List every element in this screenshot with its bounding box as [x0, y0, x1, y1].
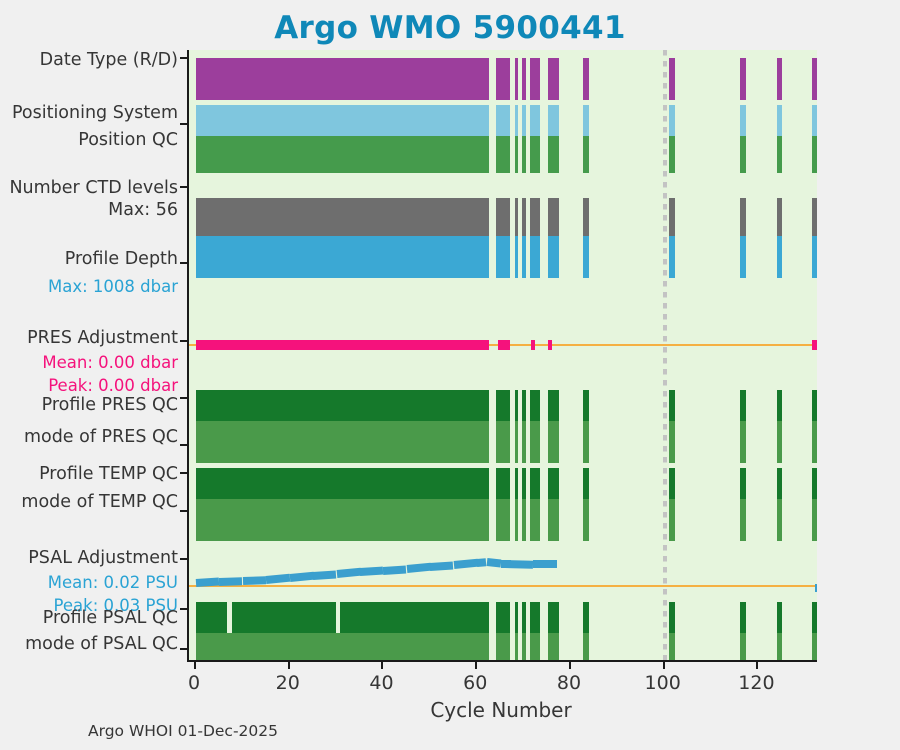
- row-positioning-system: [189, 105, 817, 136]
- bar-profile-depth: [196, 236, 489, 278]
- y-label-date-type: Date Type (R/D): [0, 50, 178, 71]
- bar-positioning-system: [522, 105, 526, 136]
- psal-adjustment-trace: [486, 558, 501, 567]
- bar-date-type: [496, 58, 510, 100]
- row-profile-psal-qc: [189, 602, 817, 633]
- bar-position-qc: [740, 136, 746, 173]
- footer-credit: Argo WHOI 01-Dec-2025: [88, 722, 278, 740]
- bar-profile-psal-qc: [740, 602, 746, 633]
- bar-mode-of-pres-qc: [740, 421, 746, 463]
- bar-mode-of-pres-qc: [196, 421, 489, 463]
- y-label-number-ctd-levels: Number CTD levels: [0, 178, 178, 199]
- psal-adjustment-point: [815, 584, 817, 592]
- bar-date-type: [522, 58, 526, 100]
- bar-number-ctd-levels: [583, 198, 589, 236]
- bar-date-type: [669, 58, 675, 100]
- plot-area: [187, 50, 817, 662]
- bar-positioning-system: [812, 105, 817, 136]
- bar-profile-depth: [669, 236, 675, 278]
- bar-profile-pres-qc: [522, 390, 526, 421]
- bar-mode-of-psal-qc: [669, 633, 675, 660]
- bar-positioning-system: [669, 105, 675, 136]
- bar-profile-temp-qc: [669, 468, 675, 499]
- x-tick-label-0: 0: [188, 672, 200, 694]
- y-label-psal-adjustment-sub1: Mean: 0.02 PSU: [0, 572, 178, 593]
- y-label-pres-adjustment-sub2: Peak: 0.00 dbar: [0, 375, 178, 396]
- y-label-profile-pres-qc: Profile PRES QC: [0, 395, 178, 416]
- x-axis: 020406080100120: [187, 662, 815, 702]
- bar-number-ctd-levels: [496, 198, 510, 236]
- bar-position-qc: [530, 136, 541, 173]
- bar-mode-of-psal-qc: [777, 633, 782, 660]
- psal-adjustment-point: [505, 560, 511, 568]
- bar-number-ctd-levels: [777, 198, 782, 236]
- x-tick-label-120: 120: [738, 672, 774, 694]
- bar-profile-depth: [496, 236, 510, 278]
- bar-mode-of-psal-qc: [496, 633, 510, 660]
- bar-profile-psal-qc: [669, 602, 675, 633]
- x-tick-label-20: 20: [276, 672, 300, 694]
- y-label-profile-psal-qc: Profile PSAL QC: [0, 608, 178, 629]
- bar-profile-pres-qc: [669, 390, 675, 421]
- bar-mode-of-psal-qc: [522, 633, 526, 660]
- bar-date-type: [515, 58, 519, 100]
- bar-positioning-system: [740, 105, 746, 136]
- bar-number-ctd-levels: [812, 198, 817, 236]
- y-label-psal-adjustment: PSAL Adjustment: [0, 548, 178, 569]
- x-tick-100: [663, 662, 665, 669]
- psal-adjustment-trace: [360, 567, 384, 577]
- bar-mode-of-pres-qc: [530, 421, 541, 463]
- bar-mode-of-psal-qc: [530, 633, 541, 660]
- bar-positioning-system: [515, 105, 519, 136]
- bar-mode-of-temp-qc: [740, 499, 746, 541]
- bar-profile-pres-qc: [812, 390, 817, 421]
- bar-position-qc: [777, 136, 782, 173]
- y-label-positioning-system: Positioning System: [0, 103, 178, 124]
- bar-mode-of-pres-qc: [812, 421, 817, 463]
- bar-date-type: [583, 58, 589, 100]
- x-tick-label-60: 60: [463, 672, 487, 694]
- bar-profile-pres-qc: [740, 390, 746, 421]
- x-tick-80: [569, 662, 571, 669]
- bar-positioning-system: [548, 105, 560, 136]
- row-date-type: [189, 58, 817, 100]
- y-label-position-qc: Position QC: [0, 130, 178, 151]
- bar-profile-temp-qc: [777, 468, 782, 499]
- bar-position-qc: [583, 136, 589, 173]
- psal-adjustment-trace: [453, 559, 477, 569]
- x-tick-0: [194, 662, 196, 669]
- y-label-profile-depth: Profile Depth: [0, 249, 178, 270]
- y-tick-9: [180, 558, 187, 560]
- y-label-mode-of-pres-qc: mode of PRES QC: [0, 427, 178, 448]
- y-label-mode-of-psal-qc: mode of PSAL QC: [0, 634, 178, 655]
- psal-adjustment-point: [552, 560, 557, 568]
- bar-mode-of-temp-qc: [777, 499, 782, 541]
- bar-profile-pres-qc: [548, 390, 560, 421]
- bar-mode-of-psal-qc: [812, 633, 817, 660]
- bar-number-ctd-levels: [740, 198, 746, 236]
- bar-date-type: [740, 58, 746, 100]
- bar-profile-pres-qc: [496, 390, 510, 421]
- x-tick-label-100: 100: [645, 672, 681, 694]
- bar-mode-of-psal-qc: [583, 633, 589, 660]
- bar-position-qc: [496, 136, 510, 173]
- bar-mode-of-pres-qc: [583, 421, 589, 463]
- bar-mode-of-pres-qc: [669, 421, 675, 463]
- bar-position-qc: [522, 136, 526, 173]
- y-label-pres-adjustment: PRES Adjustment: [0, 328, 178, 349]
- bar-profile-psal-qc: [196, 602, 227, 633]
- bar-profile-pres-qc: [777, 390, 782, 421]
- bar-profile-temp-qc: [496, 468, 510, 499]
- bar-position-qc: [669, 136, 675, 173]
- bar-positioning-system: [496, 105, 510, 136]
- bar-mode-of-temp-qc: [812, 499, 817, 541]
- y-tick-11: [180, 648, 187, 650]
- bar-profile-temp-qc: [515, 468, 519, 499]
- psal-adjustment-trace: [383, 565, 407, 575]
- bar-mode-of-psal-qc: [740, 633, 746, 660]
- bar-mode-of-temp-qc: [548, 499, 560, 541]
- x-tick-40: [381, 662, 383, 669]
- y-label-mode-of-temp-qc: mode of TEMP QC: [0, 492, 178, 513]
- bar-profile-psal-qc: [530, 602, 541, 633]
- psal-adjustment-point: [533, 560, 538, 568]
- bar-mode-of-temp-qc: [530, 499, 541, 541]
- row-psal-adjustment: [189, 545, 817, 607]
- bar-positioning-system: [583, 105, 589, 136]
- y-tick-10: [180, 608, 187, 610]
- bar-mode-of-temp-qc: [583, 499, 589, 541]
- pres-adjustment-segment: [196, 340, 489, 350]
- bar-mode-of-pres-qc: [548, 421, 560, 463]
- x-tick-label-40: 40: [369, 672, 393, 694]
- bar-mode-of-temp-qc: [496, 499, 510, 541]
- bar-date-type: [812, 58, 817, 100]
- bar-profile-temp-qc: [548, 468, 560, 499]
- bar-mode-of-temp-qc: [522, 499, 526, 541]
- bar-profile-depth: [548, 236, 560, 278]
- bar-profile-depth: [812, 236, 817, 278]
- psal-adjustment-trace: [477, 558, 487, 567]
- bar-profile-depth: [515, 236, 519, 278]
- cycle-100-reference-line: [663, 50, 667, 660]
- bar-position-qc: [515, 136, 519, 173]
- row-number-ctd-levels: [189, 198, 817, 236]
- row-position-qc: [189, 136, 817, 173]
- bar-profile-psal-qc: [515, 602, 519, 633]
- bar-positioning-system: [196, 105, 489, 136]
- bar-date-type: [530, 58, 541, 100]
- page-title: Argo WMO 5900441: [0, 10, 900, 46]
- bar-profile-depth: [522, 236, 526, 278]
- psal-adjustment-trace: [407, 563, 431, 573]
- bar-position-qc: [812, 136, 817, 173]
- y-label-number-ctd-levels-sub1: Max: 56: [0, 200, 178, 221]
- bar-number-ctd-levels: [669, 198, 675, 236]
- bar-number-ctd-levels: [548, 198, 560, 236]
- pres-adjustment-segment: [548, 340, 553, 350]
- y-label-profile-temp-qc: Profile TEMP QC: [0, 464, 178, 485]
- bar-profile-temp-qc: [740, 468, 746, 499]
- bar-mode-of-pres-qc: [777, 421, 782, 463]
- bar-profile-pres-qc: [530, 390, 541, 421]
- bar-profile-depth: [777, 236, 782, 278]
- bar-profile-pres-qc: [515, 390, 519, 421]
- y-tick-3: [180, 262, 187, 264]
- psal-adjustment-trace: [266, 574, 290, 584]
- bar-profile-psal-qc: [340, 602, 489, 633]
- bar-profile-temp-qc: [530, 468, 541, 499]
- psal-adjustment-trace: [243, 576, 267, 585]
- bar-mode-of-pres-qc: [522, 421, 526, 463]
- bar-positioning-system: [777, 105, 782, 136]
- y-label-pres-adjustment-sub1: Mean: 0.00 dbar: [0, 352, 178, 373]
- bar-profile-psal-qc: [812, 602, 817, 633]
- row-mode-of-pres-qc: [189, 421, 817, 463]
- bar-profile-pres-qc: [583, 390, 589, 421]
- bar-profile-psal-qc: [583, 602, 589, 633]
- psal-adjustment-trace: [313, 570, 337, 580]
- y-tick-1: [180, 123, 187, 125]
- y-tick-0: [180, 57, 187, 59]
- row-profile-pres-qc: [189, 390, 817, 421]
- row-profile-depth: [189, 236, 817, 278]
- pres-adjustment-segment: [531, 340, 535, 350]
- bar-profile-temp-qc: [812, 468, 817, 499]
- bar-profile-psal-qc: [496, 602, 510, 633]
- bar-position-qc: [548, 136, 560, 173]
- bar-profile-psal-qc: [522, 602, 526, 633]
- bar-profile-depth: [530, 236, 541, 278]
- x-tick-60: [475, 662, 477, 669]
- plot-canvas: [189, 50, 817, 660]
- zero-line-psal-adjustment: [189, 585, 817, 587]
- bar-profile-temp-qc: [196, 468, 489, 499]
- x-axis-title: Cycle Number: [187, 698, 815, 722]
- bar-date-type: [777, 58, 782, 100]
- x-tick-20: [288, 662, 290, 669]
- bar-number-ctd-levels: [530, 198, 541, 236]
- psal-adjustment-trace: [219, 577, 243, 586]
- bar-profile-temp-qc: [583, 468, 589, 499]
- y-tick-8: [180, 510, 187, 512]
- y-tick-2: [180, 186, 187, 188]
- bar-positioning-system: [530, 105, 541, 136]
- y-tick-4: [180, 340, 187, 342]
- bar-mode-of-psal-qc: [548, 633, 560, 660]
- row-mode-of-temp-qc: [189, 499, 817, 541]
- bar-profile-depth: [583, 236, 589, 278]
- bar-mode-of-pres-qc: [496, 421, 510, 463]
- bar-mode-of-psal-qc: [515, 633, 519, 660]
- bar-date-type: [548, 58, 560, 100]
- y-label-profile-depth-sub1: Max: 1008 dbar: [0, 276, 178, 297]
- y-tick-5: [180, 397, 187, 399]
- psal-adjustment-trace: [289, 572, 313, 582]
- psal-adjustment-trace: [336, 568, 360, 578]
- bar-mode-of-pres-qc: [515, 421, 519, 463]
- bar-mode-of-temp-qc: [196, 499, 489, 541]
- row-profile-temp-qc: [189, 468, 817, 499]
- row-mode-of-psal-qc: [189, 633, 817, 660]
- bar-number-ctd-levels: [196, 198, 489, 236]
- y-tick-7: [180, 472, 187, 474]
- bar-profile-depth: [740, 236, 746, 278]
- bar-date-type: [196, 58, 489, 100]
- bar-mode-of-temp-qc: [669, 499, 675, 541]
- psal-adjustment-trace: [430, 561, 454, 571]
- row-pres-adjustment: [189, 320, 817, 370]
- bar-profile-pres-qc: [196, 390, 489, 421]
- bar-profile-psal-qc: [548, 602, 560, 633]
- bar-profile-psal-qc: [232, 602, 336, 633]
- bar-mode-of-psal-qc: [196, 633, 489, 660]
- bar-position-qc: [196, 136, 489, 173]
- pres-adjustment-segment: [812, 340, 817, 350]
- x-tick-120: [756, 662, 758, 669]
- bar-profile-temp-qc: [522, 468, 526, 499]
- pres-adjustment-segment: [498, 340, 510, 350]
- bar-profile-psal-qc: [777, 602, 782, 633]
- bar-mode-of-temp-qc: [515, 499, 519, 541]
- x-tick-label-80: 80: [557, 672, 581, 694]
- bar-number-ctd-levels: [515, 198, 519, 236]
- y-tick-6: [180, 444, 187, 446]
- bar-number-ctd-levels: [522, 198, 526, 236]
